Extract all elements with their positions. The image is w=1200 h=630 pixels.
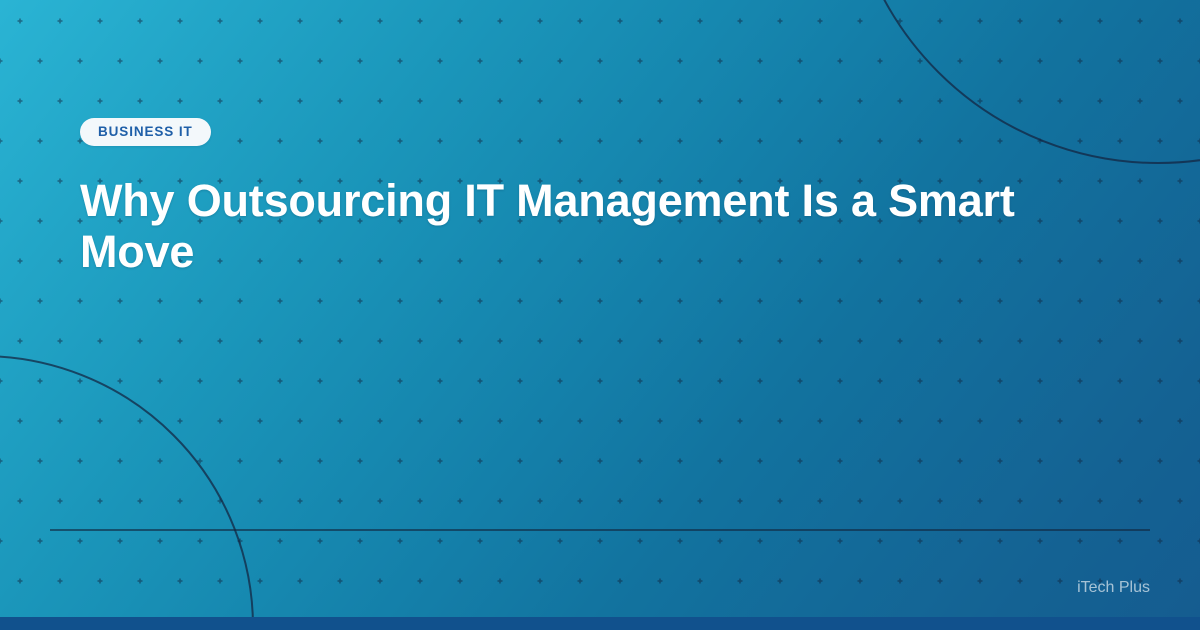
decorative-circle-bottom-left xyxy=(0,355,254,630)
bottom-accent-bar xyxy=(0,617,1200,630)
divider-rule xyxy=(50,529,1150,531)
cross-dot-pattern xyxy=(0,0,1200,630)
brand-name: iTech Plus xyxy=(1077,580,1150,596)
page-title: Why Outsourcing IT Management Is a Smart… xyxy=(80,175,1120,278)
banner-content: BUSINESS IT Why Outsourcing IT Managemen… xyxy=(80,118,1120,277)
social-share-banner: BUSINESS IT Why Outsourcing IT Managemen… xyxy=(0,0,1200,630)
category-badge: BUSINESS IT xyxy=(80,118,211,146)
